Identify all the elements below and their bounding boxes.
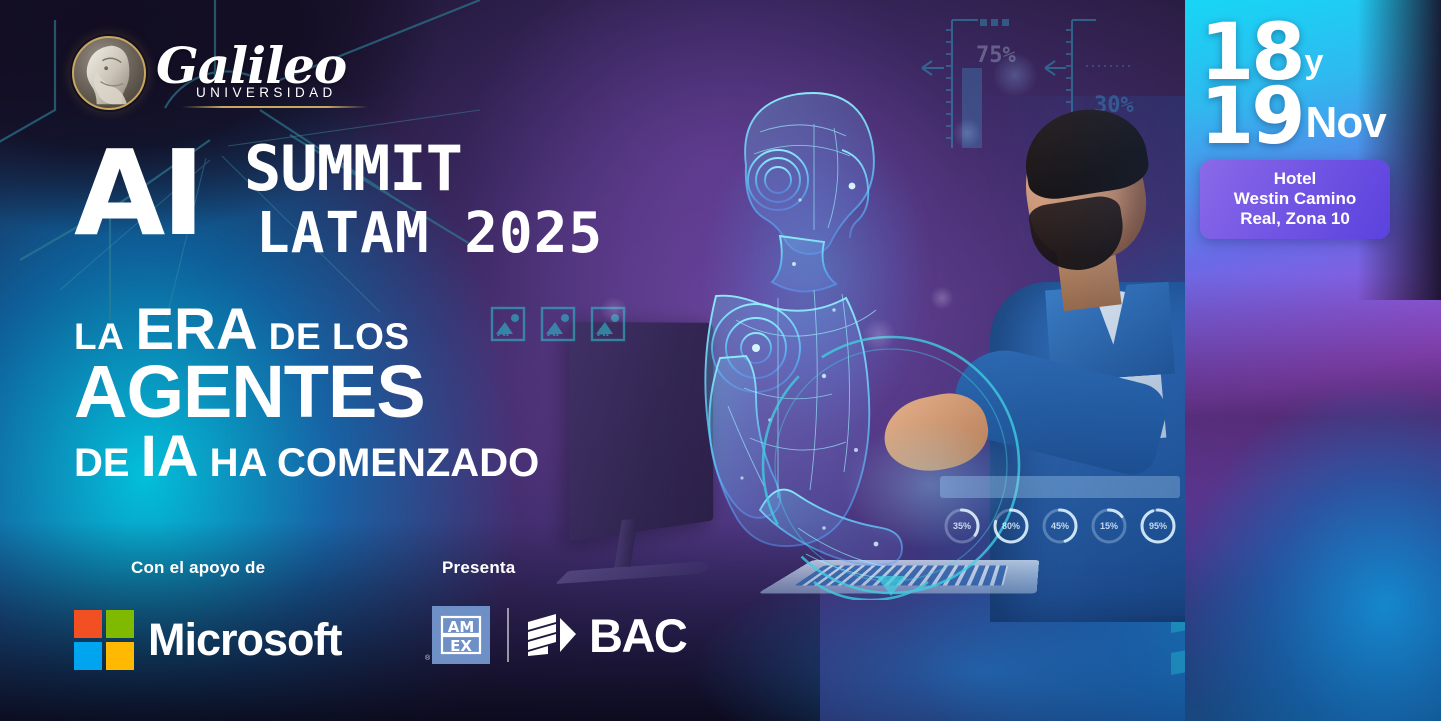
ms-tile-yellow — [106, 642, 134, 670]
gauge-item: 95% — [1138, 506, 1178, 546]
galileo-bust-icon — [72, 36, 146, 110]
gauge-label: 95% — [1138, 506, 1178, 546]
sponsor-section: Con el apoyo de Presenta Microsoft AM — [74, 558, 634, 688]
gauge-label: 45% — [1040, 506, 1080, 546]
ms-tile-green — [106, 610, 134, 638]
date-day-2: 19 — [1200, 86, 1303, 150]
presenting-sponsors: AM EX ® — [432, 606, 686, 664]
gauge-label: 80% — [991, 506, 1031, 546]
presents-label: Presenta — [442, 558, 515, 578]
tagline-agentes: AGENTES — [74, 357, 425, 427]
venue-line-2: Westin Camino — [1206, 189, 1384, 209]
tagline-ia: IA — [141, 423, 199, 490]
galileo-wordmark: Galileo UNIVERSIDAD — [156, 38, 371, 108]
amex-logo[interactable]: AM EX ® — [432, 606, 490, 664]
bac-mark-icon — [526, 612, 578, 658]
gauge-label: 15% — [1089, 506, 1129, 546]
hud-gauge-list: 35% 80% 45% 15% 95% — [942, 506, 1178, 546]
hud-progress-bar — [940, 476, 1180, 498]
ai-summit-logo: AI SUMMIT LATAM 2025 — [74, 132, 634, 272]
galileo-subtitle: UNIVERSIDAD — [196, 85, 337, 100]
amex-line-2: EX — [450, 637, 472, 655]
sponsor-divider — [507, 608, 509, 662]
bac-wordmark: BAC — [589, 608, 686, 663]
logo-ai-text: AI — [74, 134, 201, 252]
date-month: Nov — [1306, 98, 1386, 148]
venue-badge[interactable]: Hotel Westin Camino Real, Zona 10 — [1200, 160, 1390, 239]
venue-line-1: Hotel — [1206, 169, 1384, 189]
gauge-item: 35% — [942, 506, 982, 546]
event-date-block: 18 y 19 Nov Hotel Westin Camino Real, Zo… — [1200, 22, 1400, 239]
logo-latam-text: LATAM 2025 — [256, 206, 603, 262]
hud-gauge-strip: 35% 80% 45% 15% 95% — [940, 476, 1180, 568]
sponsor-labels: Con el apoyo de Presenta — [74, 558, 634, 584]
gauge-item: 15% — [1089, 506, 1129, 546]
microsoft-wordmark: Microsoft — [148, 614, 342, 666]
gauge-label: 35% — [942, 506, 982, 546]
tagline-de: DE — [74, 441, 130, 486]
event-banner: 75% 30% — [0, 0, 1441, 721]
support-label: Con el apoyo de — [131, 558, 265, 578]
galileo-university-logo[interactable]: Galileo UNIVERSIDAD — [72, 34, 372, 112]
venue-line-3: Real, Zona 10 — [1206, 209, 1384, 229]
galileo-gold-rule — [182, 106, 368, 108]
date-line-2: 19 Nov — [1200, 86, 1400, 150]
date-conjunction: y — [1305, 43, 1324, 82]
bac-logo[interactable]: BAC — [526, 608, 686, 663]
tagline-ha-comenzado: HA COMENZADO — [210, 441, 540, 486]
microsoft-squares-icon — [74, 610, 134, 670]
microsoft-logo[interactable]: Microsoft — [74, 610, 342, 670]
ms-tile-blue — [74, 642, 102, 670]
amex-registered-mark: ® — [425, 655, 430, 662]
ms-tile-red — [74, 610, 102, 638]
gauge-item: 45% — [1040, 506, 1080, 546]
amex-line-1: AM — [448, 618, 475, 636]
logo-summit-text: SUMMIT — [244, 138, 462, 200]
event-tagline: LA ERA DE LOS AGENTES DE IA HA COMENZADO — [74, 296, 634, 490]
gauge-item: 80% — [991, 506, 1031, 546]
tagline-line-2: AGENTES — [74, 357, 634, 427]
